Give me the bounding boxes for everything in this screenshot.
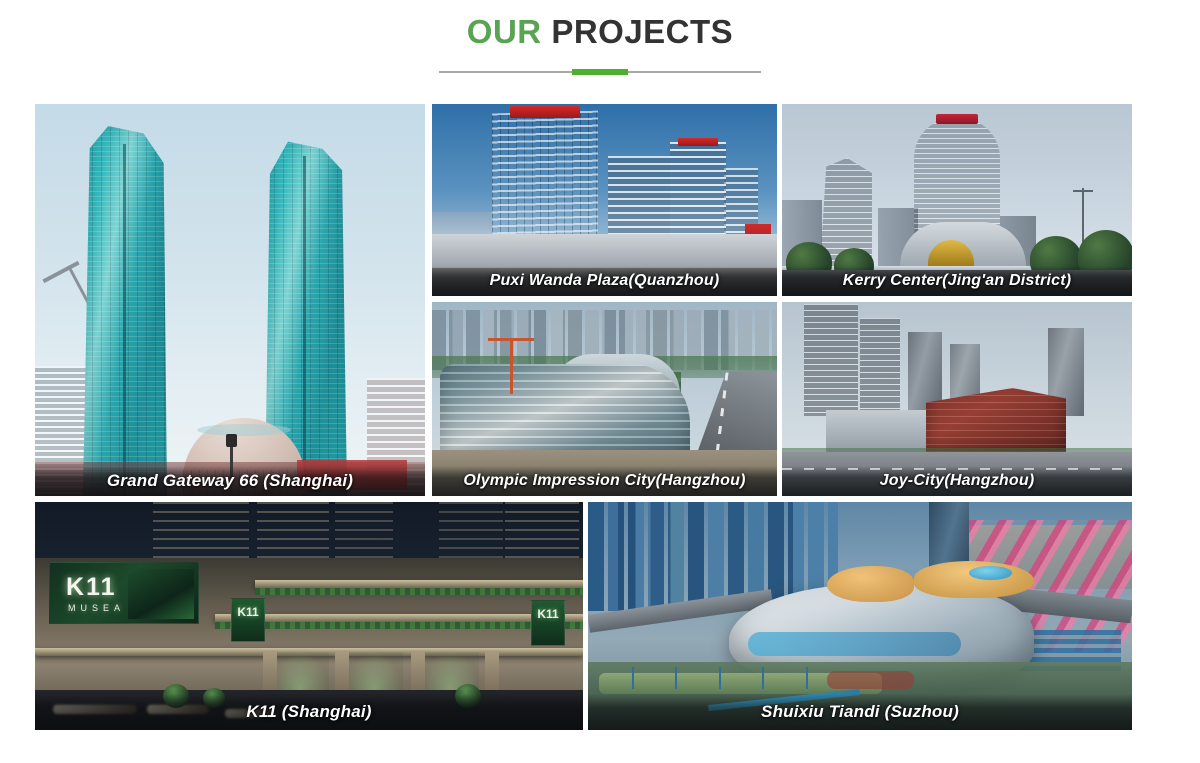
project-photo-kerry-center [782, 104, 1132, 296]
projects-gallery-page: OUR PROJECTS [0, 0, 1200, 763]
page-title-main: PROJECTS [551, 13, 733, 50]
project-card-kerry-center[interactable]: Kerry Center(Jing'an District) [782, 104, 1132, 296]
musea-sign-text: MUSEA [68, 603, 125, 613]
k11-sign-text: K11 [66, 573, 116, 602]
project-card-joy-city[interactable]: Joy-City(Hangzhou) [782, 302, 1132, 496]
project-photo-puxi-wanda-plaza [432, 104, 777, 296]
project-photo-shuixiu-tiandi [588, 502, 1132, 730]
project-card-shuixiu-tiandi[interactable]: Shuixiu Tiandi (Suzhou) [588, 502, 1132, 730]
project-photo-olympic-impression-city [432, 302, 777, 496]
project-card-grand-gateway-66[interactable]: Grand Gateway 66 (Shanghai) [35, 104, 425, 496]
project-photo-grand-gateway-66 [35, 104, 425, 496]
project-card-k11[interactable]: K11 MUSEA K11 K11 [35, 502, 583, 730]
project-photo-k11: K11 MUSEA K11 K11 [35, 502, 583, 730]
k11-banner-right-text: K11 [532, 607, 564, 621]
page-header: OUR PROJECTS [0, 0, 1200, 77]
project-grid: Grand Gateway 66 (Shanghai) Puxi Wanda P… [35, 104, 1132, 730]
project-card-puxi-wanda-plaza[interactable]: Puxi Wanda Plaza(Quanzhou) [432, 104, 777, 296]
k11-banner-right: K11 [531, 600, 565, 646]
k11-banner-left: K11 [231, 598, 265, 642]
project-card-olympic-impression-city[interactable]: Olympic Impression City(Hangzhou) [432, 302, 777, 496]
divider-accent [572, 69, 628, 75]
k11-billboard: K11 MUSEA [49, 562, 199, 624]
title-divider [439, 67, 761, 77]
page-title: OUR PROJECTS [0, 12, 1200, 52]
project-photo-joy-city [782, 302, 1132, 496]
page-title-highlight: OUR [467, 13, 542, 50]
k11-banner-left-text: K11 [232, 605, 264, 619]
